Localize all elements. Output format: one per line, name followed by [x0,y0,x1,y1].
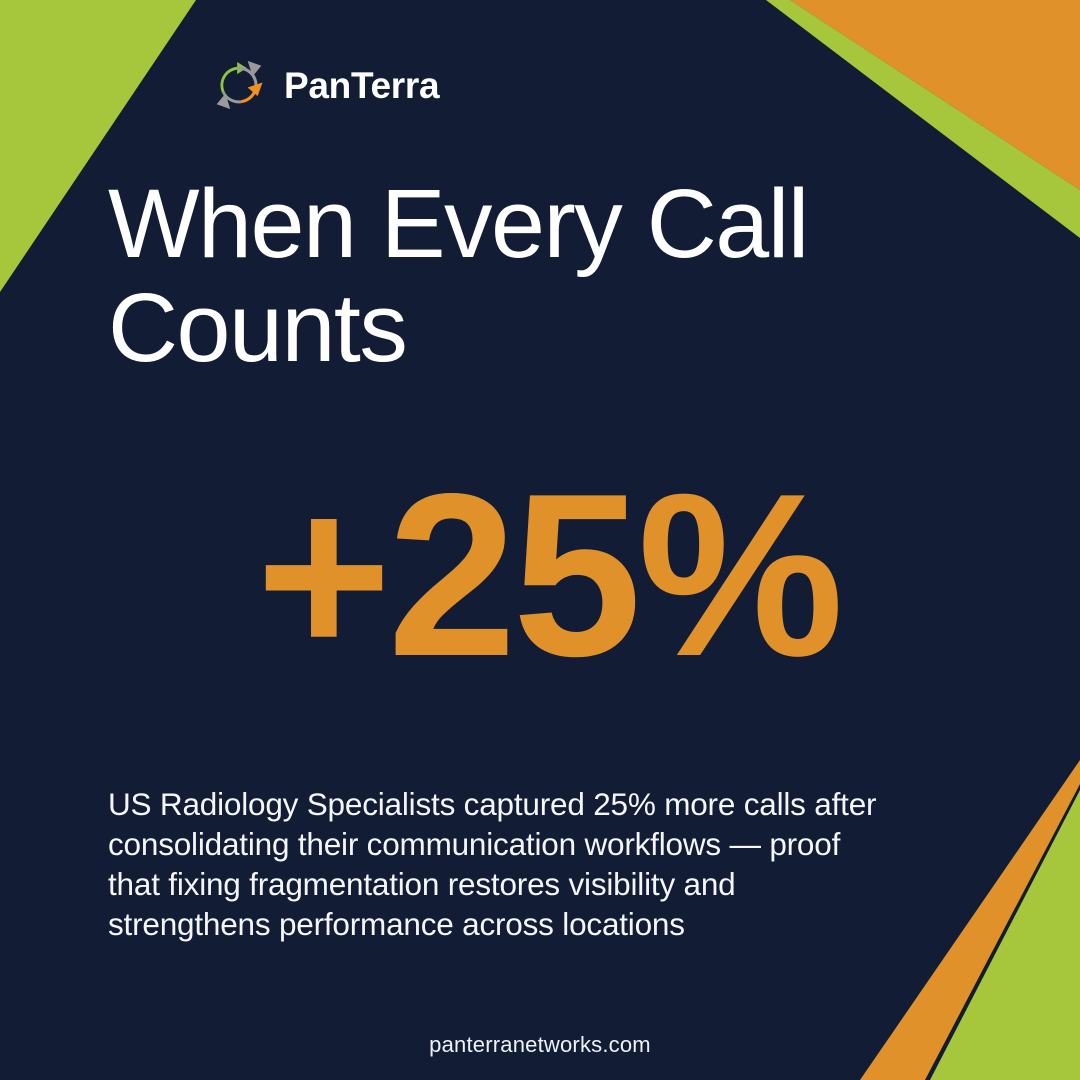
page-title: When Every Call Counts [108,172,938,380]
headline-line-2: Counts [108,273,406,382]
body-paragraph: US Radiology Specialists captured 25% mo… [108,784,898,944]
headline-line-1: When Every Call [108,169,808,278]
brand-logo-lockup: PanTerra [208,52,439,118]
brand-wordmark: PanTerra [284,67,439,104]
footer-website-url: panterranetworks.com [0,1032,1080,1058]
stat-value: +25% [108,460,988,692]
circular-arrows-icon [208,54,270,116]
social-card: PanTerra When Every Call Counts +25% US … [0,0,1080,1080]
